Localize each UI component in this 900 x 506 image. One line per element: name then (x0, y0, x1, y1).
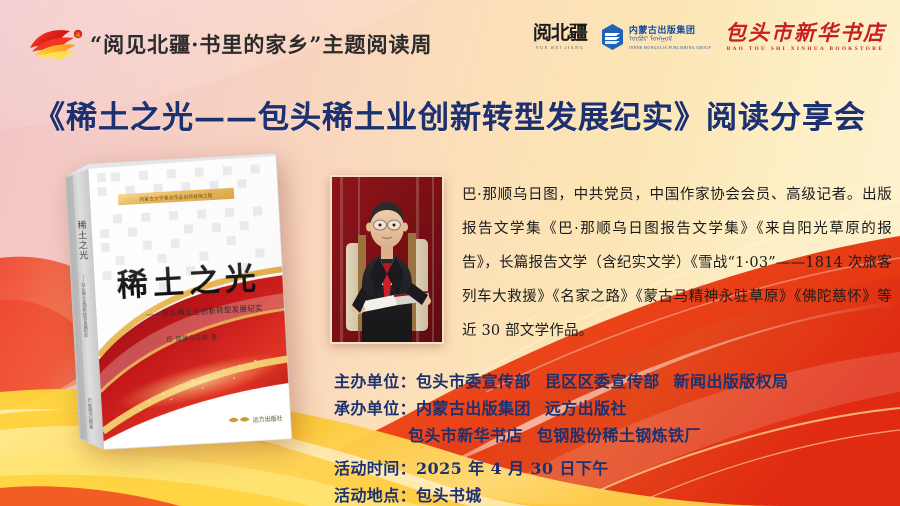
logo-inner-mongolia-publishing-group: 内蒙古出版集团 ᠦᠪᠦᠷ ᠮᠣᠩᠭᠣᠯ INNER MONGOLIA PUBLI… (601, 24, 711, 50)
author-portrait (330, 175, 444, 344)
poster-header: 阅 “阅见北疆·书里的家乡”主题阅读周 阅北疆 YUE BEI JIANG 内蒙… (0, 0, 900, 78)
svg-text:阅: 阅 (76, 31, 80, 38)
logo-xinhua-cn: 包头市新华书店 (725, 22, 886, 44)
host-line: 主办单位：包头市委宣传部昆区区委宣传部新闻出版版权局 (334, 368, 894, 395)
host-item-0: 包头市委宣传部 (416, 372, 531, 391)
logo-nmg-en: INNER MONGOLIA PUBLISHING GROUP (629, 46, 711, 50)
host-label: 主办单位： (334, 372, 416, 391)
coorganizer-line-1: 承办单位：内蒙古出版集团远方出版社 (334, 395, 894, 422)
coorganizer-label: 承办单位： (334, 399, 416, 418)
host-item-1: 昆区区委宣传部 (545, 372, 660, 391)
red-flag-icon: 阅 (28, 28, 86, 62)
coorganizer-item-2: 包头市新华书店 (408, 426, 523, 445)
coorganizer-line-2: 包头市新华书店包钢股份稀土钢炼铁厂 (334, 422, 894, 449)
coorganizer-item-0: 内蒙古出版集团 (416, 399, 531, 418)
coorganizer-item-1: 远方出版社 (545, 399, 627, 418)
book-publisher-text: 远方出版社 (252, 414, 282, 424)
logo-nmg-cn: 内蒙古出版集团 (629, 25, 711, 35)
host-item-2: 新闻出版版权局 (674, 372, 789, 391)
logo-baotou-xinhua-bookstore: 包头市新华书店 BAO TOU SHI XINHUA BOOKSTORE (725, 22, 886, 52)
event-meta-block: 活动时间：2025 年 4 月 30 日下午 活动地点：包头书城 (334, 455, 894, 506)
author-bio: 巴·那顺乌日图，中共党员，中国作家协会会员、高级记者。出版报告文学集《巴·那顺乌… (462, 178, 892, 348)
book-cover-image: 稀土之光 ——包头稀土业创新转型发展纪实 巴·那顺乌日图 著 (64, 149, 295, 456)
logo-xinhua-en: BAO TOU SHI XINHUA BOOKSTORE (727, 46, 884, 52)
event-time-value: 2025 年 4 月 30 日下午 (416, 459, 609, 478)
event-place-value: 包头书城 (416, 486, 482, 505)
event-place-line: 活动地点：包头书城 (334, 482, 894, 506)
organizer-block: 主办单位：包头市委宣传部昆区区委宣传部新闻出版版权局 承办单位：内蒙古出版集团远… (334, 368, 894, 449)
logo-yue-bei-jiang: 阅北疆 YUE BEI JIANG (533, 24, 587, 50)
poster-canvas: 阅 “阅见北疆·书里的家乡”主题阅读周 阅北疆 YUE BEI JIANG 内蒙… (0, 0, 900, 506)
logo-nmg-mongolian: ᠦᠪᠦᠷ ᠮᠣᠩᠭᠣᠯ (629, 35, 711, 44)
campaign-slogan: “阅见北疆·书里的家乡”主题阅读周 (90, 28, 432, 62)
event-time-label: 活动时间： (334, 459, 416, 478)
event-time-line: 活动时间：2025 年 4 月 30 日下午 (334, 455, 894, 482)
partner-logos: 阅北疆 YUE BEI JIANG 内蒙古出版集团 ᠦᠪᠦᠷ ᠮᠣᠩᠭᠣᠯ IN… (533, 22, 886, 52)
event-place-label: 活动地点： (334, 486, 416, 505)
page-title: 《稀土之光——包头稀土业创新转型发展纪实》阅读分享会 (0, 92, 900, 137)
coorganizer-item-3: 包钢股份稀土钢炼铁厂 (537, 426, 701, 445)
nmg-mark-icon (601, 24, 624, 50)
logo-yue-bei-jiang-en: YUE BEI JIANG (536, 45, 585, 50)
logo-yue-bei-jiang-cn: 阅北疆 (533, 24, 587, 43)
